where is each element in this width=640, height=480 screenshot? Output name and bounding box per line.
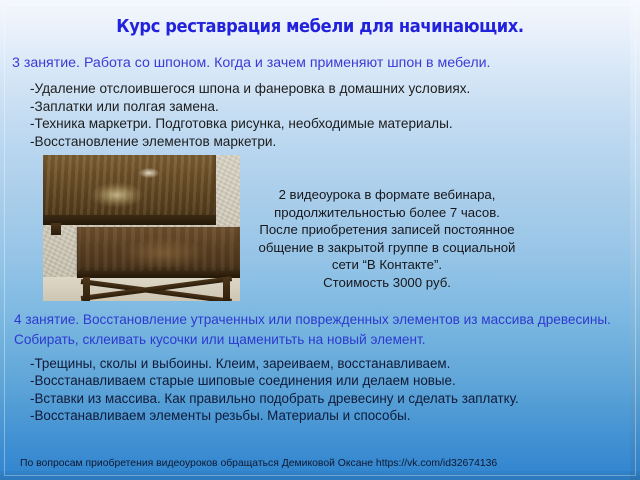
slide-bottom-edge-band	[0, 471, 640, 480]
slide-right-edge-band	[630, 0, 640, 480]
course-detail-line: 2 видеоурока в формате вебинара,	[248, 186, 526, 204]
restored-table-legs	[77, 277, 240, 301]
course-detail-line: сети “В Контакте”.	[248, 256, 526, 274]
restored-table-top-image	[77, 227, 240, 275]
course-price-line: Стоимость 3000 руб.	[248, 274, 526, 292]
list-item: -Восстанавливаем элементы резьбы. Матери…	[30, 407, 630, 424]
damaged-table-edge	[43, 215, 216, 225]
damaged-table-top-image	[43, 155, 216, 223]
list-item: -Техника маркетри. Подготовка рисунка, н…	[30, 115, 620, 133]
list-item: -Удаление отслоившегося шпона и фанеровк…	[30, 80, 620, 98]
lesson-3-bullet-list: -Удаление отслоившегося шпона и фанеровк…	[30, 80, 620, 150]
list-item: -Восстановление элементов маркетри.	[30, 133, 620, 151]
presentation-slide: Курс реставрация мебели для начинающих. …	[0, 0, 640, 480]
slide-title: Курс реставрация мебели для начинающих.	[22, 17, 617, 37]
table-leg	[223, 277, 230, 301]
lesson-3-heading: 3 занятие. Работа со шпоном. Когда и зач…	[12, 55, 632, 71]
list-item: -Восстанавливаем старые шиповые соединен…	[30, 372, 630, 389]
lesson-4-bullet-list: -Трещины, сколы и выбоины. Клеим, зареив…	[30, 355, 630, 425]
list-item: -Вставки из массива. Как правильно подоб…	[30, 390, 630, 407]
table-leg	[83, 277, 90, 301]
course-details-text: 2 видеоурока в формате вебинара, продолж…	[248, 186, 526, 292]
furniture-restoration-photo	[43, 155, 240, 301]
lesson-4-heading: 4 занятие. Восстановление утраченных или…	[14, 310, 628, 349]
contact-footer: По вопросам приобретения видеоуроков обр…	[20, 458, 620, 469]
damaged-table-leg	[51, 223, 61, 235]
list-item: -Заплатки или полгая замена.	[30, 98, 620, 116]
course-detail-line: После приобретения записей постоянное	[248, 221, 526, 239]
course-detail-line: продолжительностью более 7 часов.	[248, 204, 526, 222]
list-item: -Трещины, сколы и выбоины. Клеим, зареив…	[30, 355, 630, 372]
course-detail-line: общение в закрытой группе в социальной	[248, 239, 526, 257]
